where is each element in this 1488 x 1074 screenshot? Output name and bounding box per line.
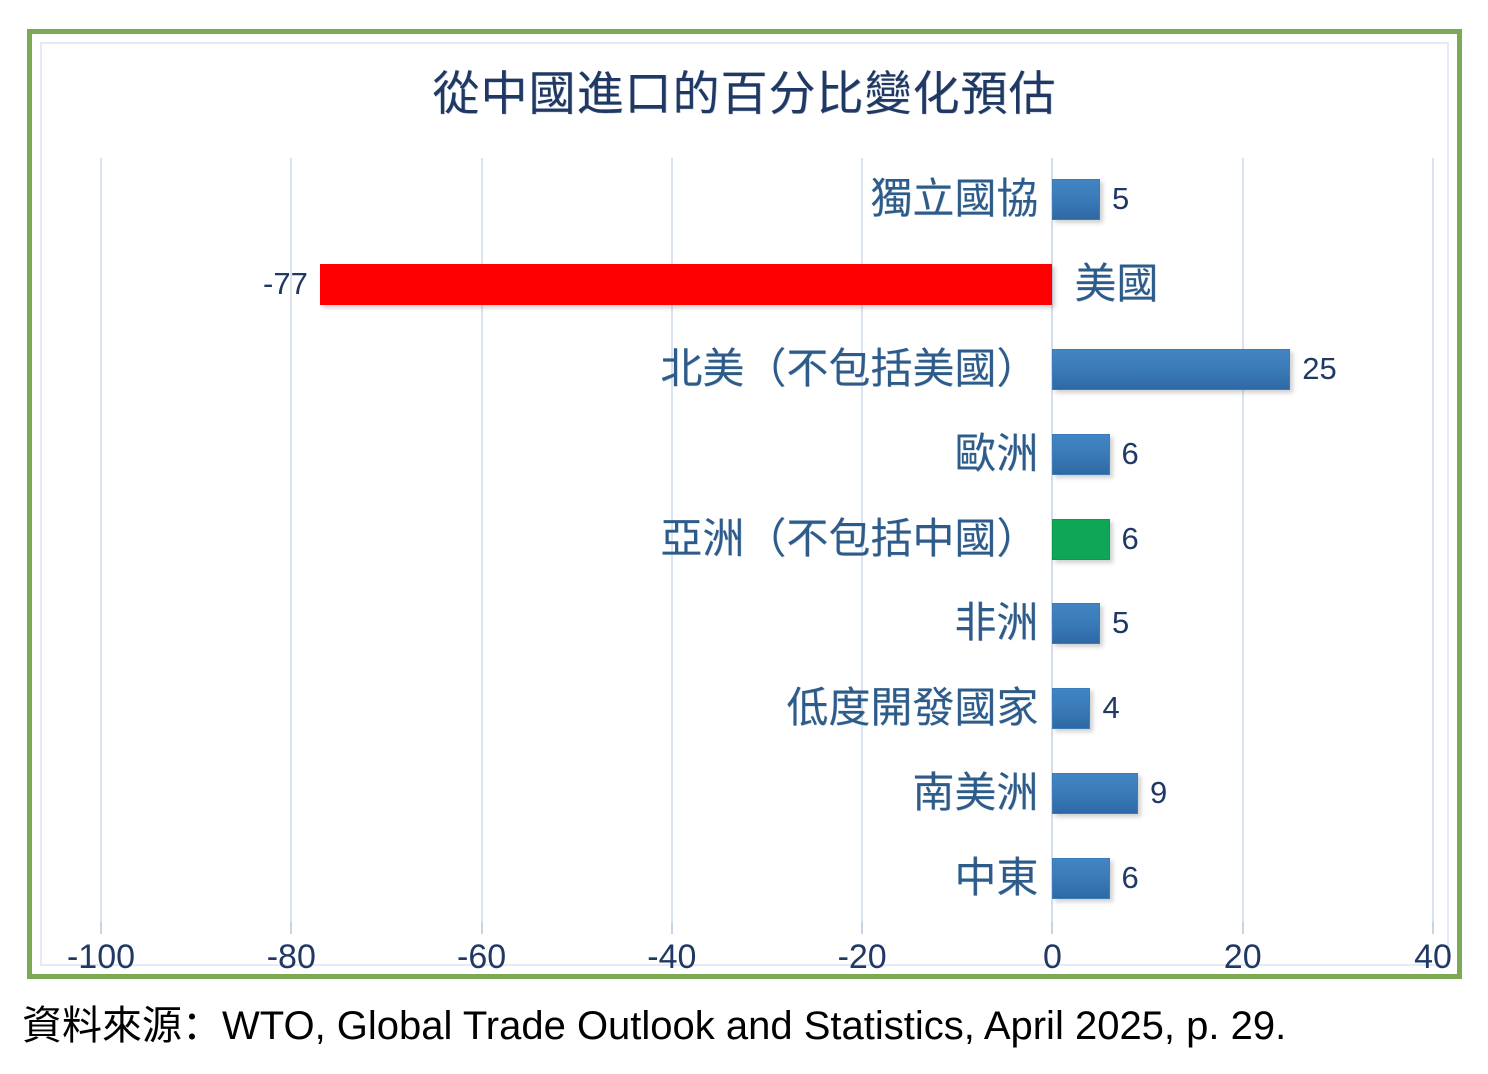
category-label: 歐洲: [954, 421, 1038, 489]
bar-value-label: 25: [1302, 351, 1336, 387]
plot-area: 5獨立國協-77美國25北美（不包括美國）6歐洲6亞洲（不包括中國）5非洲4低度…: [101, 158, 1433, 922]
bar-獨立國協[interactable]: [1052, 179, 1100, 220]
bar-value-label: -77: [263, 266, 308, 302]
bar-value-label: 9: [1150, 775, 1167, 811]
bar-row: 5獨立國協: [101, 158, 1433, 243]
x-tick: [100, 922, 102, 934]
chart-card: 從中國進口的百分比變化預估 5獨立國協-77美國25北美（不包括美國）6歐洲6亞…: [27, 29, 1462, 979]
bar-row: -77美國: [101, 243, 1433, 328]
x-tick-label: 40: [1414, 936, 1452, 978]
x-tick: [1432, 922, 1434, 934]
bar-北美（不包括美國）[interactable]: [1052, 349, 1290, 390]
category-label: 中東: [954, 845, 1038, 913]
x-tick-label: -40: [647, 936, 696, 978]
bar-非洲[interactable]: [1052, 603, 1100, 644]
bar-row: 6亞洲（不包括中國）: [101, 498, 1433, 583]
x-tick-label: -60: [457, 936, 506, 978]
bar-value-label: 5: [1112, 605, 1129, 641]
chart-inner-frame: 從中國進口的百分比變化預估 5獨立國協-77美國25北美（不包括美國）6歐洲6亞…: [40, 42, 1449, 966]
bar-亞洲（不包括中國）[interactable]: [1052, 519, 1109, 560]
bar-row: 4低度開發國家: [101, 667, 1433, 752]
category-label: 南美洲: [912, 760, 1038, 828]
bar-低度開發國家[interactable]: [1052, 688, 1090, 729]
category-label: 獨立國協: [870, 166, 1038, 234]
x-tick-label: -80: [267, 936, 316, 978]
x-tick: [861, 922, 863, 934]
bar-南美洲[interactable]: [1052, 773, 1138, 814]
bar-row: 6歐洲: [101, 413, 1433, 498]
chart-title: 從中國進口的百分比變化預估: [42, 68, 1447, 122]
bar-value-label: 6: [1122, 521, 1139, 557]
category-label: 北美（不包括美國）: [660, 336, 1038, 404]
x-tick: [1051, 922, 1053, 934]
bar-value-label: 5: [1112, 181, 1129, 217]
x-tick-label: -100: [67, 936, 135, 978]
bar-value-label: 4: [1102, 690, 1119, 726]
category-label: 美國: [1074, 251, 1158, 319]
bar-value-label: 6: [1122, 860, 1139, 896]
category-label: 低度開發國家: [786, 675, 1038, 743]
bar-row: 9南美洲: [101, 752, 1433, 837]
x-tick: [481, 922, 483, 934]
category-label: 亞洲（不包括中國）: [660, 506, 1038, 574]
source-note: 資料來源：WTO, Global Trade Outlook and Stati…: [22, 1000, 1286, 1052]
category-label: 非洲: [954, 590, 1038, 658]
bar-歐洲[interactable]: [1052, 434, 1109, 475]
bar-中東[interactable]: [1052, 858, 1109, 899]
bar-row: 6中東: [101, 837, 1433, 922]
x-tick: [1242, 922, 1244, 934]
x-axis: -100-80-60-40-2002040: [101, 922, 1433, 982]
x-tick-label: -20: [838, 936, 887, 978]
bar-value-label: 6: [1122, 436, 1139, 472]
bar-美國[interactable]: [320, 264, 1053, 305]
bar-row: 5非洲: [101, 582, 1433, 667]
x-tick: [290, 922, 292, 934]
x-tick-label: 0: [1043, 936, 1062, 978]
bar-row: 25北美（不包括美國）: [101, 328, 1433, 413]
x-tick-label: 20: [1224, 936, 1262, 978]
x-tick: [671, 922, 673, 934]
